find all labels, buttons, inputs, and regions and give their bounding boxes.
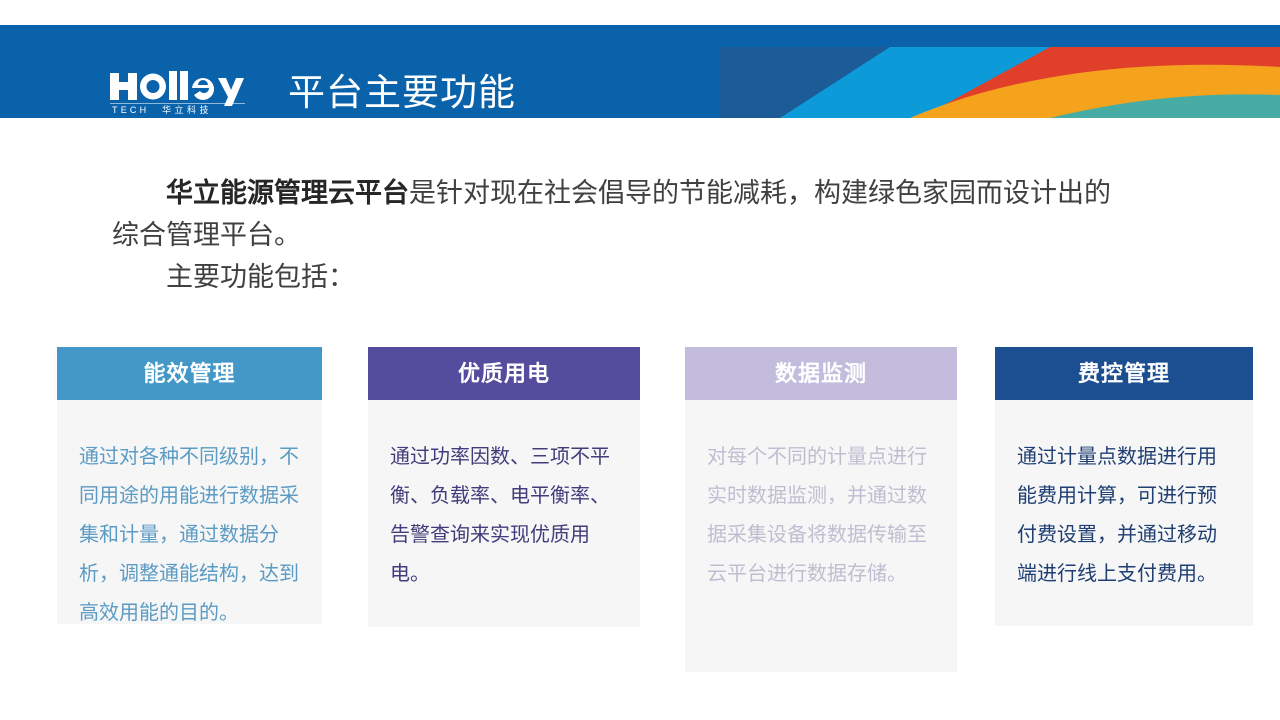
feature-card-quality-power[interactable]: 优质用电 通过功率因数、三项不平衡、负载率、电平衡率、告警查询来实现优质用电。 bbox=[368, 347, 640, 627]
feature-card-body: 通过对各种不同级别，不同用途的用能进行数据采集和计量，通过数据分析，调整通能结构… bbox=[57, 400, 322, 624]
feature-card-group: 能效管理 通过对各种不同级别，不同用途的用能进行数据采集和计量，通过数据分析，调… bbox=[0, 0, 1280, 720]
feature-card-header: 能效管理 bbox=[57, 347, 322, 400]
feature-card-header: 优质用电 bbox=[368, 347, 640, 400]
feature-card-energy-efficiency[interactable]: 能效管理 通过对各种不同级别，不同用途的用能进行数据采集和计量，通过数据分析，调… bbox=[57, 347, 322, 624]
feature-card-data-monitoring[interactable]: 数据监测 对每个不同的计量点进行实时数据监测，并通过数据采集设备将数据传输至云平… bbox=[685, 347, 957, 672]
feature-card-text: 通过对各种不同级别，不同用途的用能进行数据采集和计量，通过数据分析，调整通能结构… bbox=[79, 438, 300, 633]
feature-card-text: 通过计量点数据进行用能费用计算，可进行预付费设置，并通过移动端进行线上支付费用。 bbox=[1017, 438, 1231, 594]
feature-card-fee-control[interactable]: 费控管理 通过计量点数据进行用能费用计算，可进行预付费设置，并通过移动端进行线上… bbox=[995, 347, 1253, 626]
feature-card-body: 对每个不同的计量点进行实时数据监测，并通过数据采集设备将数据传输至云平台进行数据… bbox=[685, 400, 957, 672]
feature-card-header: 费控管理 bbox=[995, 347, 1253, 400]
feature-card-header: 数据监测 bbox=[685, 347, 957, 400]
feature-card-body: 通过功率因数、三项不平衡、负载率、电平衡率、告警查询来实现优质用电。 bbox=[368, 400, 640, 627]
feature-card-text: 对每个不同的计量点进行实时数据监测，并通过数据采集设备将数据传输至云平台进行数据… bbox=[707, 438, 935, 594]
feature-card-body: 通过计量点数据进行用能费用计算，可进行预付费设置，并通过移动端进行线上支付费用。 bbox=[995, 400, 1253, 626]
feature-card-text: 通过功率因数、三项不平衡、负载率、电平衡率、告警查询来实现优质用电。 bbox=[390, 438, 618, 594]
